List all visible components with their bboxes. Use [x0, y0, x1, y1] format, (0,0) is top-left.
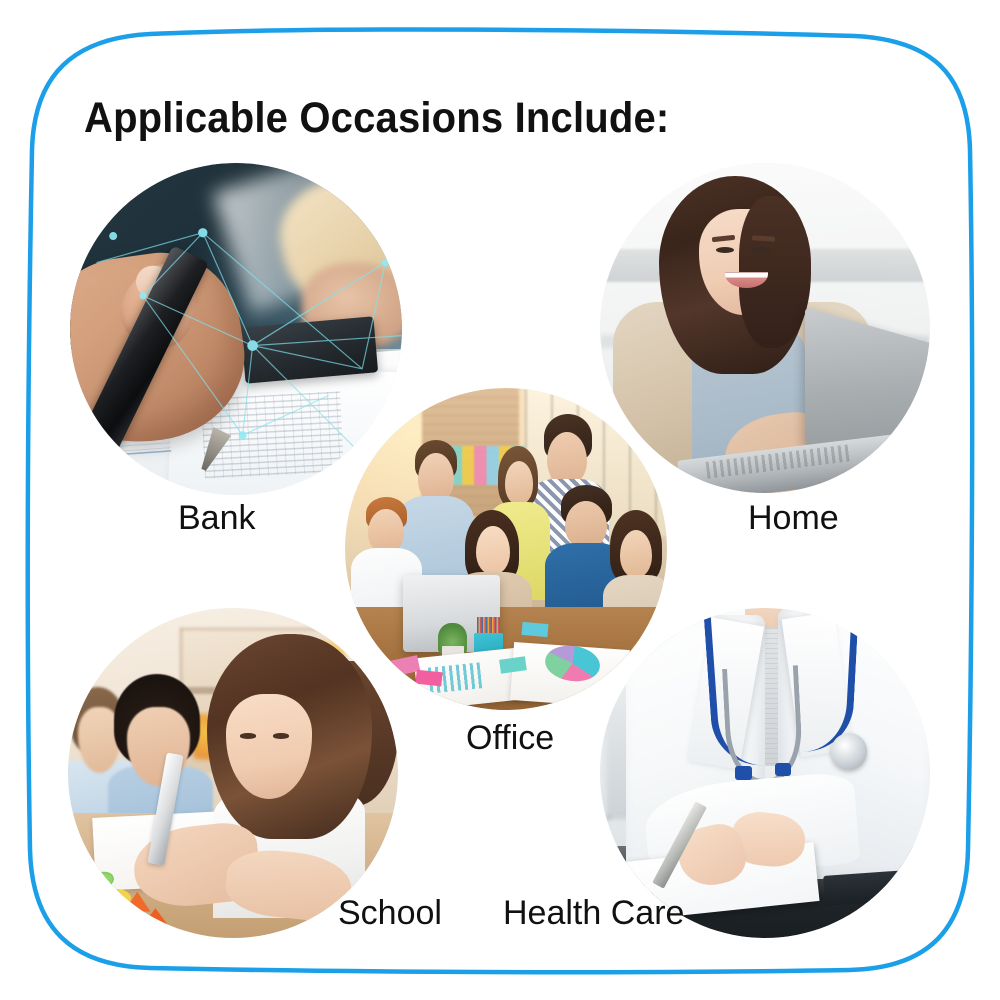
- page-title: Applicable Occasions Include:: [84, 94, 669, 143]
- occasion-label-office: Office: [466, 719, 554, 758]
- occasion-label-bank: Bank: [178, 499, 256, 538]
- occasion-image-office: [345, 388, 667, 710]
- office-photo: [345, 388, 667, 710]
- occasion-label-home: Home: [748, 499, 839, 538]
- occasion-label-school: School: [338, 894, 442, 933]
- poster: Applicable Occasions Include:: [0, 0, 1000, 1000]
- occasion-label-health-care: Health Care: [503, 894, 684, 933]
